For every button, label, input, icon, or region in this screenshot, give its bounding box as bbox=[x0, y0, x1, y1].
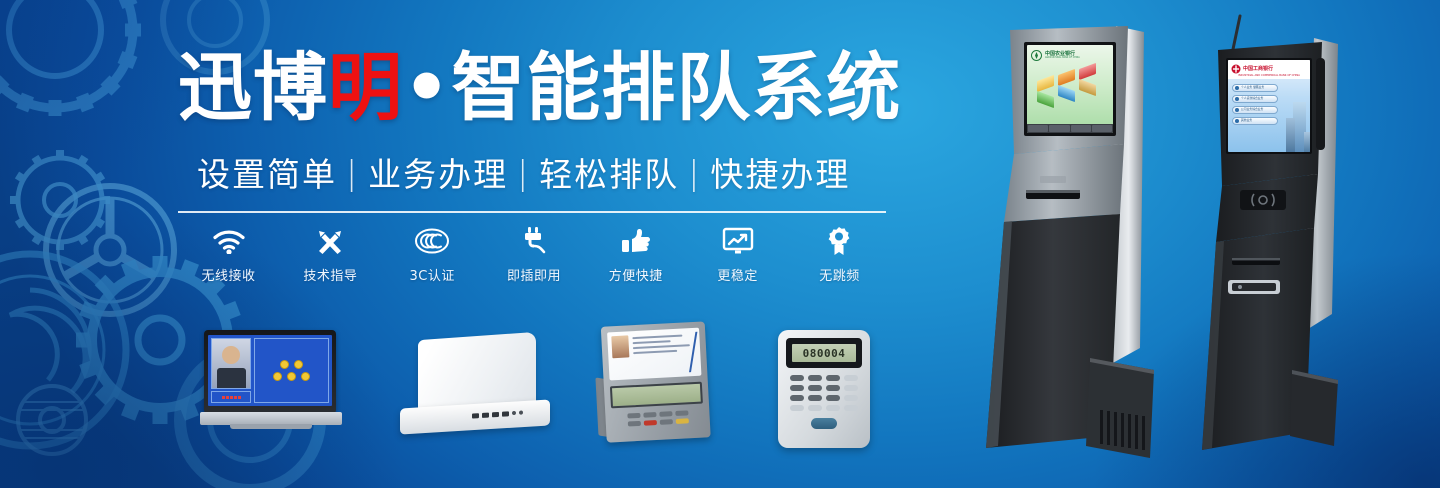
keypad-body: 080004 bbox=[778, 330, 870, 448]
kiosk-a-bank-name-en: AGRICULTURAL BANK OF CHINA bbox=[1045, 57, 1080, 60]
staff-photo bbox=[211, 338, 251, 389]
rating-face-row-top bbox=[280, 360, 303, 369]
menu-item-label: 公司业务综合业务 bbox=[1241, 108, 1263, 111]
menu-item-label: 个人业务 储蓄业务 bbox=[1241, 86, 1264, 89]
feature-label: 无线接收 bbox=[201, 265, 255, 284]
subtitle-item-2: 业务办理 bbox=[368, 148, 508, 196]
feature-list: 无线接收 技术指导 bbox=[178, 224, 890, 288]
menu-item-bullet-icon bbox=[1235, 119, 1239, 123]
kiosk-b-menu-list[interactable]: 个人业务 储蓄业务 个人贷款综合业务 公司业务综合业务 其他业务 bbox=[1232, 84, 1278, 125]
wifi-icon bbox=[212, 224, 246, 258]
feature-label: 3C认证 bbox=[409, 265, 454, 284]
subtitle-separator-2: | bbox=[508, 153, 539, 192]
feature-item-wireless: 无线接收 bbox=[178, 224, 279, 284]
menu-item-label: 其他业务 bbox=[1241, 119, 1252, 122]
feature-item-no-frequency-hop: 无跳频 bbox=[789, 224, 890, 284]
product-wireless-caller-keypad: 080004 无线呼叫器 bbox=[778, 330, 870, 448]
feature-label: 更稳定 bbox=[717, 265, 758, 284]
feature-label: 无跳频 bbox=[819, 265, 860, 284]
menu-item[interactable]: 其他业务 bbox=[1232, 117, 1278, 125]
menu-tile[interactable] bbox=[1079, 63, 1096, 80]
feature-item-plug-and-play: 即插即用 bbox=[483, 224, 584, 284]
star-rating bbox=[211, 391, 251, 403]
award-ribbon-icon bbox=[826, 224, 852, 258]
title-part-two: 智能排队系统 bbox=[451, 45, 901, 131]
menu-item-bullet-icon bbox=[1235, 108, 1239, 112]
menu-item-label: 个人贷款综合业务 bbox=[1241, 97, 1263, 100]
page-title: 迅博明•智能排队系统 bbox=[178, 42, 898, 134]
kiosk-a-taskbar[interactable] bbox=[1027, 124, 1113, 133]
monitor-chart-icon bbox=[722, 224, 754, 258]
subtitle-item-3: 轻松排队 bbox=[539, 148, 679, 196]
monitor-foot bbox=[230, 424, 312, 429]
power-plug-icon bbox=[520, 224, 548, 258]
rating-face-row-bottom bbox=[273, 372, 310, 381]
kiosk-b-bank-name-en: INDUSTRIAL AND COMMERCIAL BANK OF CHINA bbox=[1228, 74, 1310, 79]
product-wireless-host: 无线主机 bbox=[400, 336, 550, 440]
keypad-lcd-bezel: 080004 bbox=[786, 338, 862, 368]
agricultural-bank-logo-icon bbox=[1031, 50, 1042, 61]
menu-item[interactable]: 个人业务 储蓄业务 bbox=[1232, 84, 1278, 92]
rating-face bbox=[287, 372, 296, 381]
title-highlight-char: 明 bbox=[328, 45, 403, 131]
rating-face bbox=[273, 372, 282, 381]
keypad-display-number: 080004 bbox=[803, 347, 846, 360]
queue-kiosk-icbc: 中国工商银行 INDUSTRIAL AND COMMERCIAL BANK OF… bbox=[1196, 14, 1374, 466]
subtitle-separator-1: | bbox=[337, 153, 368, 192]
keypad-lcd-screen: 080004 bbox=[792, 344, 856, 363]
kiosk-a-menu-tiles[interactable] bbox=[1027, 64, 1113, 116]
feature-label: 方便快捷 bbox=[609, 265, 663, 284]
kiosk-b-bank-header: 中国工商银行 bbox=[1228, 60, 1310, 74]
subtitle-item-1: 设置简单 bbox=[197, 148, 337, 196]
horizontal-divider bbox=[178, 211, 886, 213]
kiosk-b-screen[interactable]: 中国工商银行 INDUSTRIAL AND COMMERCIAL BANK OF… bbox=[1228, 60, 1310, 152]
icbc-logo-icon bbox=[1231, 64, 1241, 74]
feature-item-ccc: 3C认证 bbox=[382, 224, 483, 284]
menu-item-bullet-icon bbox=[1235, 97, 1239, 101]
evaluator-body bbox=[601, 321, 711, 442]
keypad-key-grid bbox=[786, 375, 862, 411]
product-desk-evaluator: 桌面评价器 bbox=[593, 321, 719, 453]
monitor-bezel bbox=[204, 330, 336, 414]
promotional-banner: 迅博明•智能排队系统 设置简单 | 业务办理 | 轻松排队 | 快捷办理 bbox=[0, 0, 1440, 488]
menu-item-bullet-icon bbox=[1235, 86, 1239, 90]
subtitle: 设置简单 | 业务办理 | 轻松排队 | 快捷办理 bbox=[197, 150, 897, 194]
kiosk-a-bank-header: 中国农业银行 AGRICULTURAL BANK OF CHINA bbox=[1027, 45, 1113, 61]
kiosk-b-bank-name: 中国工商银行 bbox=[1243, 66, 1273, 72]
menu-tile[interactable] bbox=[1079, 79, 1096, 96]
id-photo bbox=[611, 335, 629, 358]
feature-item-convenient: 方便快捷 bbox=[585, 224, 686, 284]
feature-label: 即插即用 bbox=[507, 265, 561, 284]
evaluator-keypad bbox=[611, 410, 704, 428]
feature-item-stable: 更稳定 bbox=[687, 224, 788, 284]
monitor-screen bbox=[208, 335, 332, 406]
menu-tile[interactable] bbox=[1037, 91, 1054, 108]
title-part-one: 迅博 bbox=[178, 45, 328, 131]
rating-face bbox=[294, 360, 303, 369]
id-text-lines bbox=[632, 332, 697, 375]
title-dot-separator: • bbox=[403, 45, 451, 131]
monitor-staff-panel bbox=[211, 338, 251, 403]
ccc-certification-icon bbox=[414, 224, 450, 258]
kiosk-a-screen[interactable]: 中国农业银行 AGRICULTURAL BANK OF CHINA bbox=[1027, 45, 1113, 133]
evaluator-id-card bbox=[607, 328, 701, 381]
evaluator-lcd bbox=[610, 382, 703, 409]
menu-item[interactable]: 个人贷款综合业务 bbox=[1232, 95, 1278, 103]
monitor-rating-panel bbox=[254, 338, 329, 403]
menu-tile[interactable] bbox=[1058, 85, 1075, 102]
product-evaluation-monitor: 评价显示器 bbox=[200, 330, 342, 440]
menu-tile[interactable] bbox=[1037, 75, 1054, 92]
rating-face bbox=[301, 372, 310, 381]
feature-label: 技术指导 bbox=[303, 265, 357, 284]
tools-icon bbox=[315, 224, 345, 258]
menu-tile[interactable] bbox=[1058, 69, 1075, 86]
rating-face bbox=[280, 360, 289, 369]
feature-item-support: 技术指导 bbox=[280, 224, 381, 284]
product-showcase: 评价显示器 无线主机 bbox=[178, 318, 898, 458]
thumbs-up-icon bbox=[620, 224, 652, 258]
subtitle-separator-3: | bbox=[679, 153, 710, 192]
subtitle-item-4: 快捷办理 bbox=[710, 148, 850, 196]
keypad-call-button[interactable] bbox=[811, 418, 837, 429]
menu-item[interactable]: 公司业务综合业务 bbox=[1232, 106, 1278, 114]
queue-kiosk-agricultural-bank: 中国农业银行 AGRICULTURAL BANK OF CHINA bbox=[968, 18, 1168, 470]
